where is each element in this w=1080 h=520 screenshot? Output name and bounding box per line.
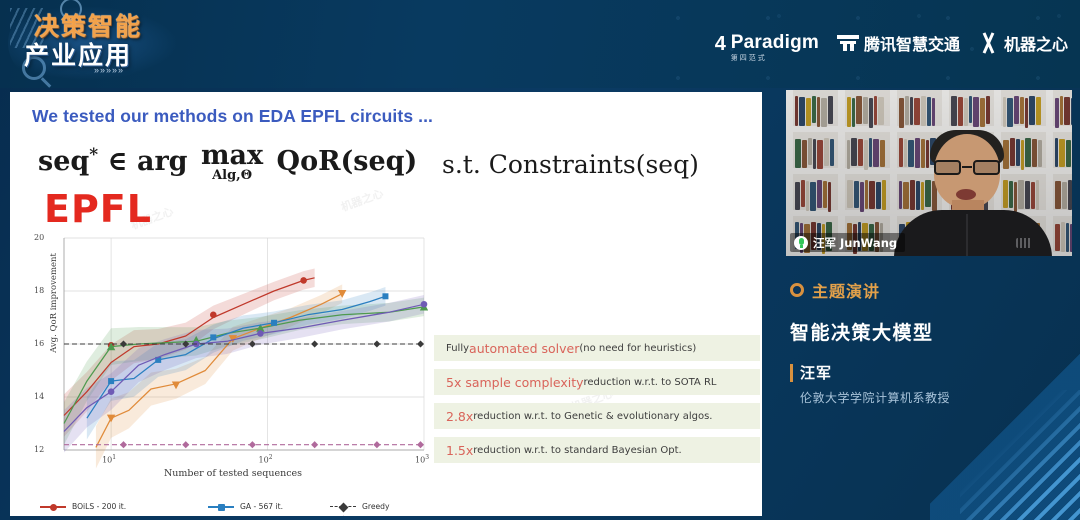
speaker-info-block: 汪军 伦敦大学学院计算机系教授 bbox=[790, 362, 950, 406]
speaker-nametag: 汪军 JunWang bbox=[790, 233, 905, 252]
callout-text-tail: reduction w.r.t. to SOTA RL bbox=[584, 377, 717, 388]
chart-legend-label: BOiLS - 200 it. bbox=[72, 502, 126, 511]
slide-title: We tested our methods on EDA EPFL circui… bbox=[32, 106, 433, 127]
chart-legend-marker bbox=[330, 502, 356, 512]
speaker-name: 汪军 bbox=[800, 362, 950, 383]
results-callout-list: Fully automated solver (no need for heur… bbox=[434, 335, 760, 471]
speaker-side-panel: 汪军 JunWang 主题演讲 智能决策大模型 汪军 伦敦大学学院计算机系教授 bbox=[766, 0, 1080, 520]
watermark: 机器之心 bbox=[339, 185, 386, 215]
formula-seq: seq bbox=[38, 146, 89, 177]
chart-legend-item: RS - 1000 it. bbox=[208, 513, 287, 516]
formula-argmax-prefix: ∈ arg bbox=[108, 146, 188, 177]
qor-improvement-chart: Avg. QoR improvement Number of tested se… bbox=[28, 232, 428, 490]
chart-legend-marker bbox=[208, 502, 234, 512]
formula-argmax: max Alg,Θ bbox=[201, 142, 263, 183]
chart-legend-column: BOiLS - 200 it.SBO - 300 it.RL (A2C) - 1… bbox=[40, 500, 142, 516]
chart-y-axis-label: Avg. QoR improvement bbox=[49, 233, 59, 373]
callout-text-highlight: automated solver bbox=[469, 341, 579, 356]
chart-x-tick: 102 bbox=[259, 454, 273, 465]
glasses-icon bbox=[934, 160, 1000, 175]
microphone-icon bbox=[794, 236, 808, 250]
corner-stripes-decoration bbox=[960, 390, 1080, 520]
speaker-affiliation: 伦敦大学学院计算机系教授 bbox=[800, 389, 950, 406]
callout-item: Fully automated solver (no need for heur… bbox=[434, 335, 760, 361]
callout-text-highlight: 1.5x bbox=[446, 443, 473, 458]
callout-text-highlight: 2.8x bbox=[446, 409, 473, 424]
chart-legend-label: GA - 567 it. bbox=[240, 502, 283, 511]
callout-item: 1.5x reduction w.r.t. to standard Bayesi… bbox=[434, 437, 760, 463]
callout-text-plain: Fully bbox=[446, 343, 469, 354]
speaker-torso bbox=[894, 210, 1052, 256]
ring-icon bbox=[790, 283, 804, 297]
chart-y-tick: 18 bbox=[34, 286, 44, 295]
topic-label: 主题演讲 bbox=[812, 278, 880, 302]
chart-legend-item: EPFL best (lvl/count) bbox=[330, 513, 440, 516]
chart-legend-item: SBO - 300 it. bbox=[40, 513, 142, 516]
event-logo-chevrons: »»»»» bbox=[94, 65, 124, 75]
callout-text-tail: reduction w.r.t. to Genetic & evolutiona… bbox=[473, 411, 712, 422]
formula-argmax-sub: Alg,Θ bbox=[201, 169, 263, 183]
broadcast-screen: 决策智能 产业应用 »»»»» 4 Paradigm 第四范式 腾讯智慧交通 机… bbox=[0, 0, 1080, 520]
chart-y-tick: 20 bbox=[34, 233, 44, 242]
chart-legend-marker bbox=[40, 502, 66, 512]
chart-y-tick: 12 bbox=[34, 445, 44, 454]
chart-legend-marker bbox=[40, 515, 66, 517]
speaker-video-feed[interactable]: 汪军 JunWang bbox=[786, 90, 1072, 256]
nametag-label: 汪军 JunWang bbox=[813, 235, 897, 251]
chart-legend-item: Greedy bbox=[330, 500, 440, 513]
speaker-mouth bbox=[956, 189, 976, 200]
sponsor-4paradigm-mark: 4 bbox=[715, 33, 728, 57]
chart-plot-area bbox=[28, 232, 428, 490]
chart-legend-marker bbox=[330, 515, 356, 517]
formula-star: * bbox=[89, 145, 98, 165]
chart-legend-label: SBO - 300 it. bbox=[72, 515, 120, 516]
chart-x-tick: 101 bbox=[102, 454, 116, 465]
formula-objective: QoR(seq) bbox=[277, 146, 418, 177]
callout-item: 2.8x reduction w.r.t. to Genetic & evolu… bbox=[434, 403, 760, 429]
callout-text-tail: reduction w.r.t. to standard Bayesian Op… bbox=[473, 445, 681, 456]
constraint-formula: s.t. Constraints(seq) bbox=[442, 150, 699, 179]
topic-label-row: 主题演讲 bbox=[790, 278, 880, 302]
chart-x-tick: 103 bbox=[415, 454, 429, 465]
chart-legend-label: EPFL best (lvl/count) bbox=[362, 515, 440, 516]
glasses-left-lens bbox=[934, 160, 961, 175]
chart-legend-column: GreedyEPFL best (lvl/count) bbox=[330, 500, 440, 516]
chart-legend-item: BOiLS - 200 it. bbox=[40, 500, 142, 513]
glasses-right-lens bbox=[973, 160, 1000, 175]
callout-text-highlight: 5x sample complexity bbox=[446, 375, 584, 390]
chart-legend-label: Greedy bbox=[362, 502, 390, 511]
presentation-slide: 机器之心 机器之心 机器之心 机器之心 We tested our method… bbox=[10, 92, 762, 516]
jacket-zipper bbox=[966, 214, 968, 256]
jacket-logo bbox=[1016, 238, 1032, 248]
sponsor-4paradigm-subtitle: 第四范式 bbox=[731, 53, 767, 63]
chart-y-tick: 14 bbox=[34, 392, 44, 401]
event-logo: 决策智能 产业应用 »»»»» bbox=[8, 2, 188, 86]
speaker-avatar bbox=[898, 134, 1048, 256]
formula-argmax-top: max bbox=[201, 142, 263, 169]
chart-y-tick: 16 bbox=[34, 339, 44, 348]
chart-legend-marker bbox=[208, 515, 234, 517]
epfl-logo: EPFL bbox=[44, 187, 152, 231]
chart-legend-item: GA - 567 it. bbox=[208, 500, 287, 513]
callout-item: 5x sample complexity reduction w.r.t. to… bbox=[434, 369, 760, 395]
objective-formula: seq* ∈ arg max Alg,Θ QoR(seq) bbox=[38, 142, 417, 183]
chart-legend-column: GA - 567 it.RS - 1000 it. bbox=[208, 500, 287, 516]
glasses-bridge bbox=[962, 166, 972, 168]
chart-x-axis-label: Number of tested sequences bbox=[68, 468, 398, 479]
talk-title: 智能决策大模型 bbox=[790, 318, 934, 345]
chart-legend-label: RS - 1000 it. bbox=[240, 515, 287, 516]
callout-text-tail: (no need for heuristics) bbox=[579, 343, 696, 354]
